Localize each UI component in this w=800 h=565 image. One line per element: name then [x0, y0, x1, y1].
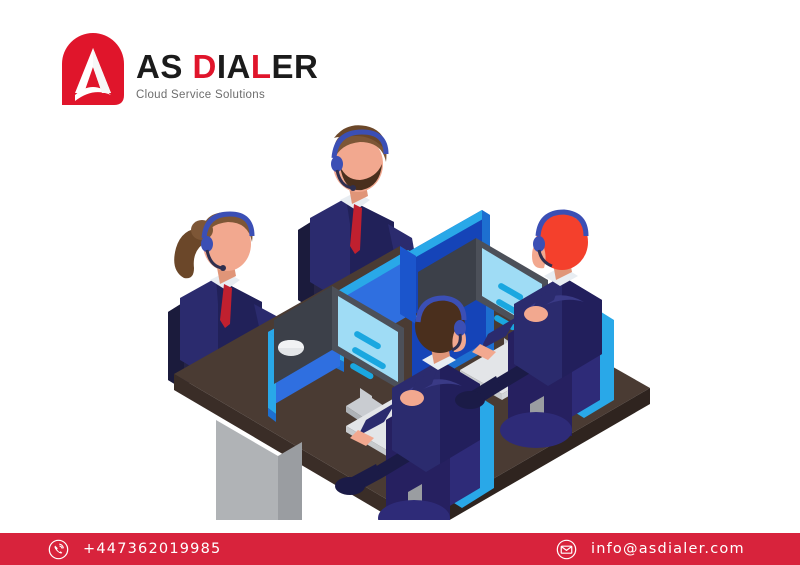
footer-email-address: info@asdialer.com — [591, 541, 745, 557]
footer-phone-number: +447362019985 — [83, 541, 221, 557]
brand-logo[interactable]: AS DIALER Cloud Service Solutions — [62, 33, 318, 105]
wordmark-er: ER — [272, 48, 319, 85]
wordmark-l: L — [251, 48, 272, 85]
as-dialer-a-mark-icon — [62, 33, 124, 105]
footer-email-item[interactable]: info@asdialer.com — [556, 539, 745, 560]
envelope-icon — [556, 539, 577, 560]
wordmark-text: AS DIALER — [136, 50, 318, 83]
wordmark-ia: IA — [217, 48, 251, 85]
brand-tagline: Cloud Service Solutions — [136, 89, 318, 101]
wordmark-d: D — [193, 48, 217, 85]
footer-phone-item[interactable]: +447362019985 — [48, 539, 221, 560]
wordmark-as: AS — [136, 48, 193, 85]
contact-footer: +447362019985 info@asdialer.com — [0, 533, 800, 565]
phone-call-icon — [48, 539, 69, 560]
brand-wordmark: AS DIALER Cloud Service Solutions — [136, 33, 318, 101]
call-center-illustration — [150, 120, 670, 520]
screenshot-root: AS DIALER Cloud Service Solutions — [0, 0, 800, 565]
